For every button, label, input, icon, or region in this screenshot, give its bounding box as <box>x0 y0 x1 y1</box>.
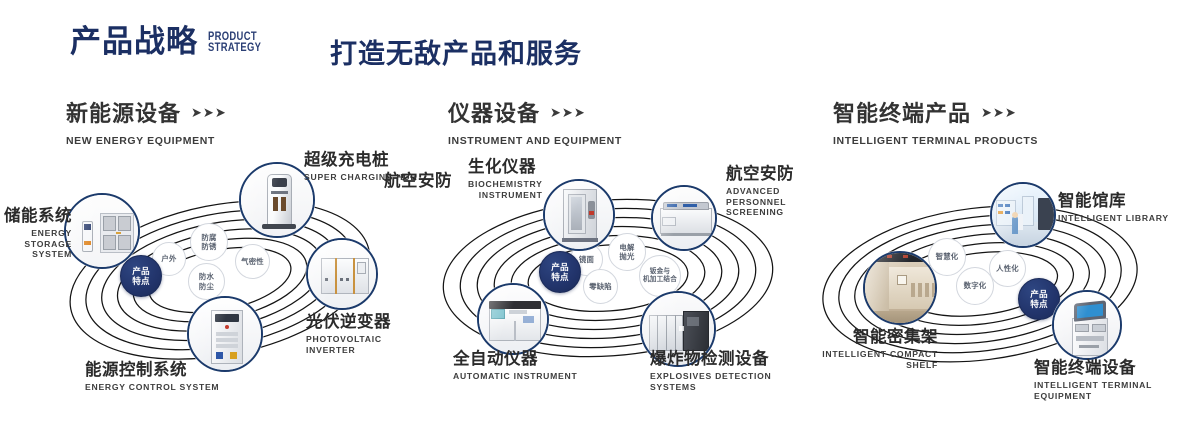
feature-bubble: 数字化 <box>956 267 994 305</box>
product-label-en: PHOTOVOLTAIC INVERTER <box>306 334 424 355</box>
section-title-en: INSTRUMENT AND EQUIPMENT <box>448 135 622 147</box>
chevron-right-icon: ➤➤➤ <box>191 106 226 119</box>
feature-bubble: 气密性 <box>235 244 270 279</box>
product-circle-compact-shelf[interactable] <box>863 251 937 325</box>
product-label-personnel-screening: 航空安防 ADVANCED PERSONNEL SCREENING <box>726 165 808 218</box>
product-circle-automatic-instrument[interactable] <box>477 283 549 355</box>
section-title-new-energy: 新能源设备 ➤➤➤ NEW ENERGY EQUIPMENT <box>66 96 226 147</box>
product-label-cn: 航空安防 <box>372 172 452 190</box>
product-label-en: ENERGY STORAGE SYSTEM <box>0 228 72 259</box>
section-title-cn: 仪器设备 <box>448 96 540 128</box>
section-title-instrument: 仪器设备 ➤➤➤ INSTRUMENT AND EQUIPMENT <box>448 96 622 147</box>
product-circle-photovoltaic-inverter[interactable] <box>306 238 378 310</box>
product-circle-biochemistry-instrument[interactable] <box>543 179 615 251</box>
feature-bubble: 防水 防尘 <box>188 263 225 300</box>
product-label-en: BIOCHEMISTRY INSTRUMENT <box>468 179 543 200</box>
product-label-en: INTELLIGENT COMPACT SHELF <box>818 349 938 370</box>
feature-bubble: 人性化 <box>989 250 1026 287</box>
product-label-cn: 超级充电桩 <box>304 151 417 169</box>
product-label-en: ENERGY CONTROL SYSTEM <box>85 382 219 392</box>
product-label-cn: 光伏逆变器 <box>306 313 424 331</box>
product-circle-personnel-screening[interactable] <box>651 185 717 251</box>
product-label-cn: 全自动仪器 <box>453 350 577 368</box>
product-label-en: EXPLOSIVES DETECTION SYSTEMS <box>650 371 808 392</box>
product-circle-energy-storage[interactable] <box>64 193 140 269</box>
cluster-intelligent-terminal: 智慧化 数字化 人性化 产品 特点 <box>800 150 1200 402</box>
cluster-new-energy: 户外 防腐 防锈 防水 防尘 气密性 产品 特点 <box>24 150 424 402</box>
product-label-aviation-security-left: 航空安防 <box>372 172 452 190</box>
product-label-automatic-instrument: 全自动仪器 AUTOMATIC INSTRUMENT <box>453 350 577 382</box>
product-label-compact-shelf: 智能密集架 INTELLIGENT COMPACT SHELF <box>818 328 938 370</box>
product-label-cn: 生化仪器 <box>468 158 543 176</box>
product-label-cn: 智能馆库 <box>1058 192 1169 210</box>
product-label-cn: 能源控制系统 <box>85 361 219 379</box>
section-title-cn: 智能终端产品 <box>833 96 971 128</box>
page-title-cn: 产品战略 <box>70 26 198 57</box>
feature-bubble: 零缺陷 <box>583 269 618 304</box>
product-label-cn: 爆炸物检测设备 <box>650 350 808 368</box>
feature-bubble: 防腐 防锈 <box>190 223 228 261</box>
section-title-intelligent-terminal: 智能终端产品 ➤➤➤ INTELLIGENT TERMINAL PRODUCTS <box>833 96 1038 147</box>
product-label-cn: 智能密集架 <box>818 328 938 346</box>
product-circle-intelligent-library[interactable] <box>990 182 1056 248</box>
product-label-photovoltaic-inverter: 光伏逆变器 PHOTOVOLTAIC INVERTER <box>306 313 424 355</box>
chevron-right-icon: ➤➤➤ <box>981 106 1016 119</box>
product-label-biochemistry-instrument: 生化仪器 BIOCHEMISTRY INSTRUMENT <box>468 158 543 200</box>
product-label-explosives-detection: 爆炸物检测设备 EXPLOSIVES DETECTION SYSTEMS <box>650 350 808 392</box>
product-label-en: INTELLIGENT TERMINAL EQUIPMENT <box>1034 380 1200 401</box>
page-header: 产品战略 PRODUCT STRATEGY <box>70 26 273 57</box>
product-label-en: INTELLIGENT LIBRARY <box>1058 213 1169 223</box>
product-label-cn: 储能系统 <box>0 207 72 225</box>
page-tagline: 打造无敌产品和服务 <box>330 32 582 71</box>
product-circle-terminal-equipment[interactable] <box>1052 290 1122 360</box>
section-title-cn: 新能源设备 <box>66 96 181 128</box>
product-label-intelligent-library: 智能馆库 INTELLIGENT LIBRARY <box>1058 192 1169 224</box>
chevron-right-icon: ➤➤➤ <box>550 106 585 119</box>
product-label-terminal-equipment: 智能终端设备 INTELLIGENT TERMINAL EQUIPMENT <box>1034 359 1200 401</box>
product-label-energy-storage: 储能系统 ENERGY STORAGE SYSTEM <box>0 207 72 260</box>
section-title-en: NEW ENERGY EQUIPMENT <box>66 135 226 147</box>
cluster-instrument: 镜面 电解 抛光 零缺陷 钣金与 机加工结合 产品 特点 <box>408 150 808 402</box>
product-strategy-infographic: 产品战略 PRODUCT STRATEGY 打造无敌产品和服务 新能源设备 ➤➤… <box>0 0 1200 422</box>
section-title-en: INTELLIGENT TERMINAL PRODUCTS <box>833 135 1038 147</box>
product-label-cn: 航空安防 <box>726 165 808 183</box>
product-label-en: ADVANCED PERSONNEL SCREENING <box>726 186 808 217</box>
feature-bubble: 电解 抛光 <box>608 233 646 271</box>
product-label-en: AUTOMATIC INSTRUMENT <box>453 371 577 381</box>
page-title-en: PRODUCT STRATEGY <box>208 32 261 55</box>
product-label-energy-control-system: 能源控制系统 ENERGY CONTROL SYSTEM <box>85 361 219 393</box>
product-label-cn: 智能终端设备 <box>1034 359 1200 377</box>
